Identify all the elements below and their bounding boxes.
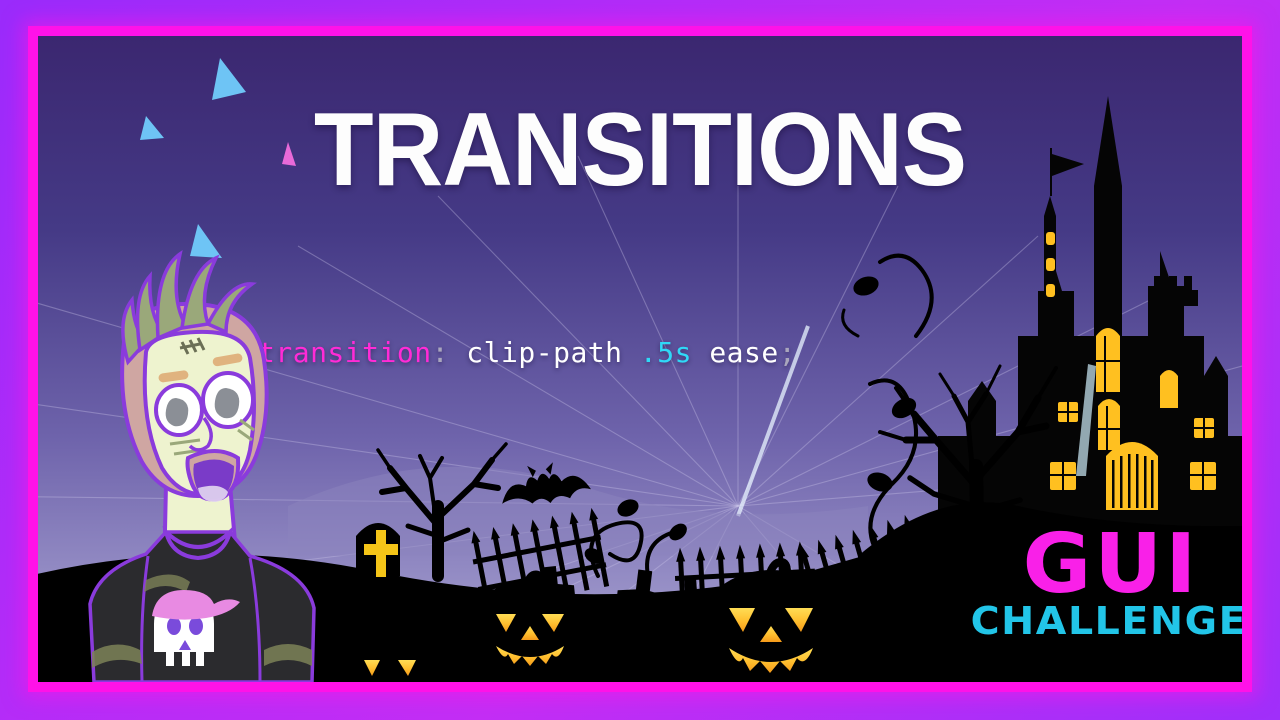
presenter-avatar — [54, 232, 384, 682]
gui-challenges-logo: GUI CHALLENGES — [976, 527, 1242, 640]
logo-gui-text: GUI — [973, 527, 1242, 602]
logo-challenges-text: CHALLENGES — [971, 602, 1242, 640]
video-thumbnail: TRANSITIONS transition: clip-path .5s ea… — [0, 0, 1280, 720]
scene-viewport: TRANSITIONS transition: clip-path .5s ea… — [38, 36, 1242, 682]
zombie-head-icon — [122, 254, 267, 502]
